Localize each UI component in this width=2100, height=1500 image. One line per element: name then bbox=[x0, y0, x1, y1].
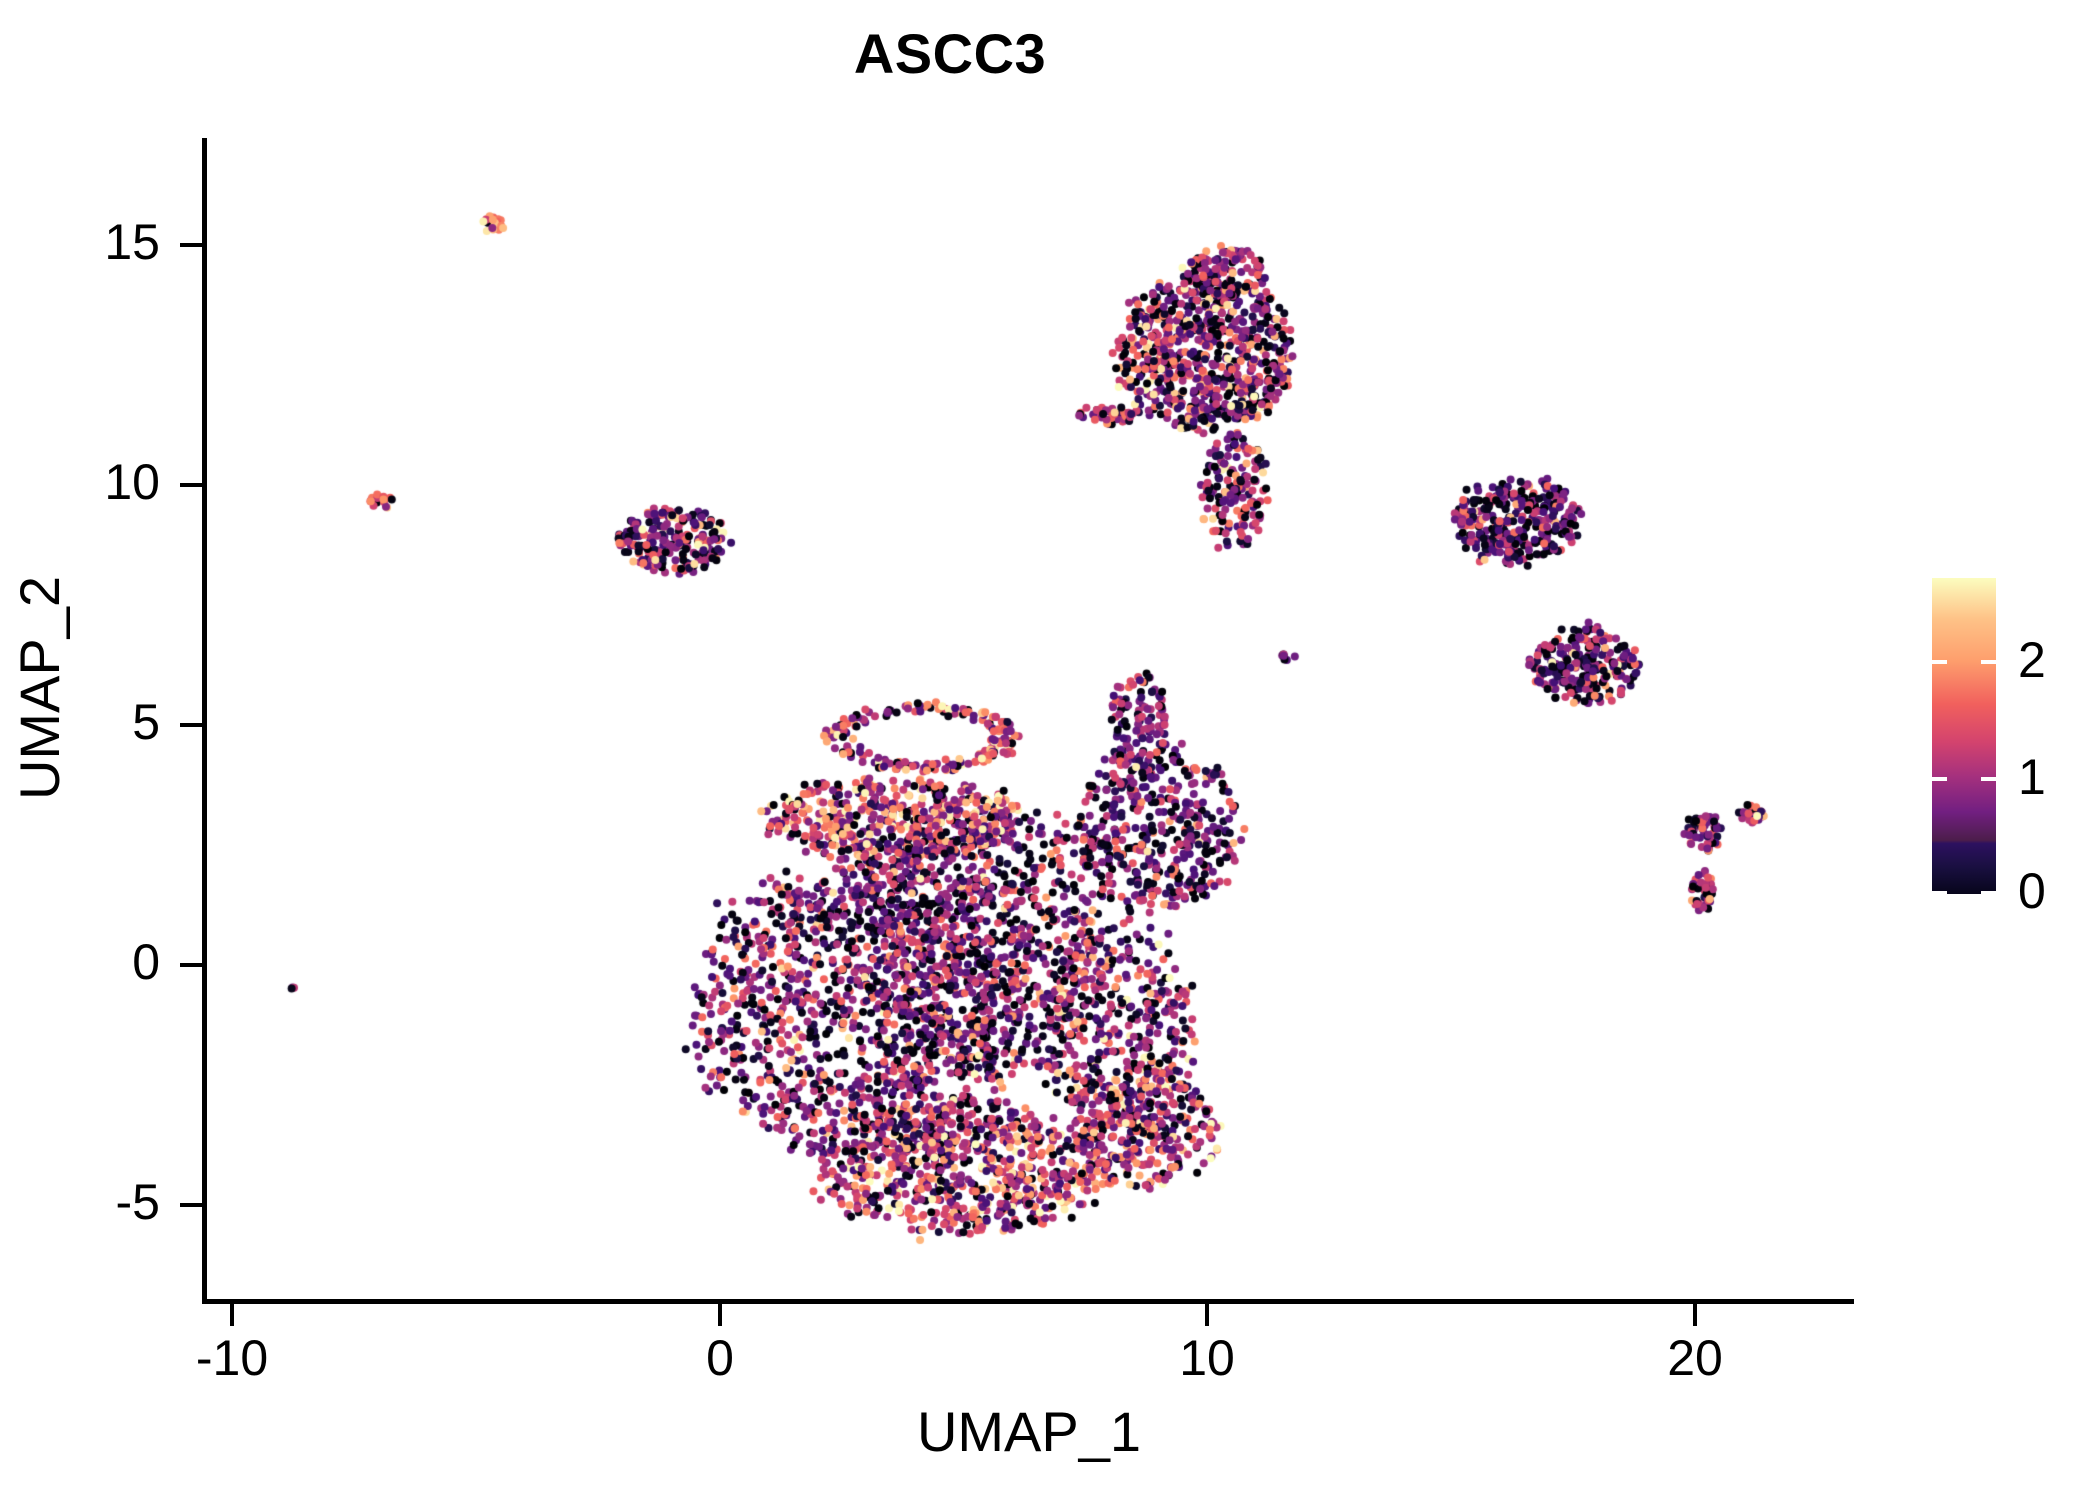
umap-scatter-canvas bbox=[206, 140, 1852, 1300]
x-tick-mark bbox=[1205, 1304, 1209, 1326]
x-tick-mark bbox=[230, 1304, 234, 1326]
x-tick-mark bbox=[718, 1304, 722, 1326]
x-axis-title: UMAP_1 bbox=[206, 1404, 1852, 1460]
legend-tick-label: 1 bbox=[2018, 752, 2100, 802]
y-tick-mark bbox=[180, 243, 202, 247]
y-tick-label: 15 bbox=[0, 217, 160, 267]
legend-tick-label: 0 bbox=[2018, 866, 2100, 916]
x-tick-label: 10 bbox=[1087, 1332, 1327, 1385]
x-axis-line bbox=[202, 1299, 1854, 1304]
color-legend: 2 1 0 bbox=[1932, 578, 1996, 894]
page-title: ASCC3 bbox=[0, 26, 1900, 82]
plot-panel bbox=[206, 140, 1852, 1300]
legend-tick-label: 2 bbox=[2018, 635, 2100, 685]
y-tick-mark bbox=[180, 963, 202, 967]
legend-colorbar bbox=[1932, 578, 1996, 894]
feature-plot-root: ASCC3 -10 0 10 20 15 10 5 0 -5 UMAP_1 UM… bbox=[0, 0, 2100, 1500]
x-tick-label: -10 bbox=[112, 1332, 352, 1385]
x-tick-mark bbox=[1693, 1304, 1697, 1326]
y-tick-mark bbox=[180, 723, 202, 727]
y-axis-title: UMAP_2 bbox=[12, 338, 68, 1038]
y-tick-mark bbox=[180, 483, 202, 487]
x-tick-label: 0 bbox=[600, 1332, 840, 1385]
y-axis-line bbox=[202, 138, 207, 1304]
y-tick-mark bbox=[180, 1203, 202, 1207]
y-tick-label: -5 bbox=[0, 1177, 160, 1227]
x-tick-label: 20 bbox=[1575, 1332, 1815, 1385]
